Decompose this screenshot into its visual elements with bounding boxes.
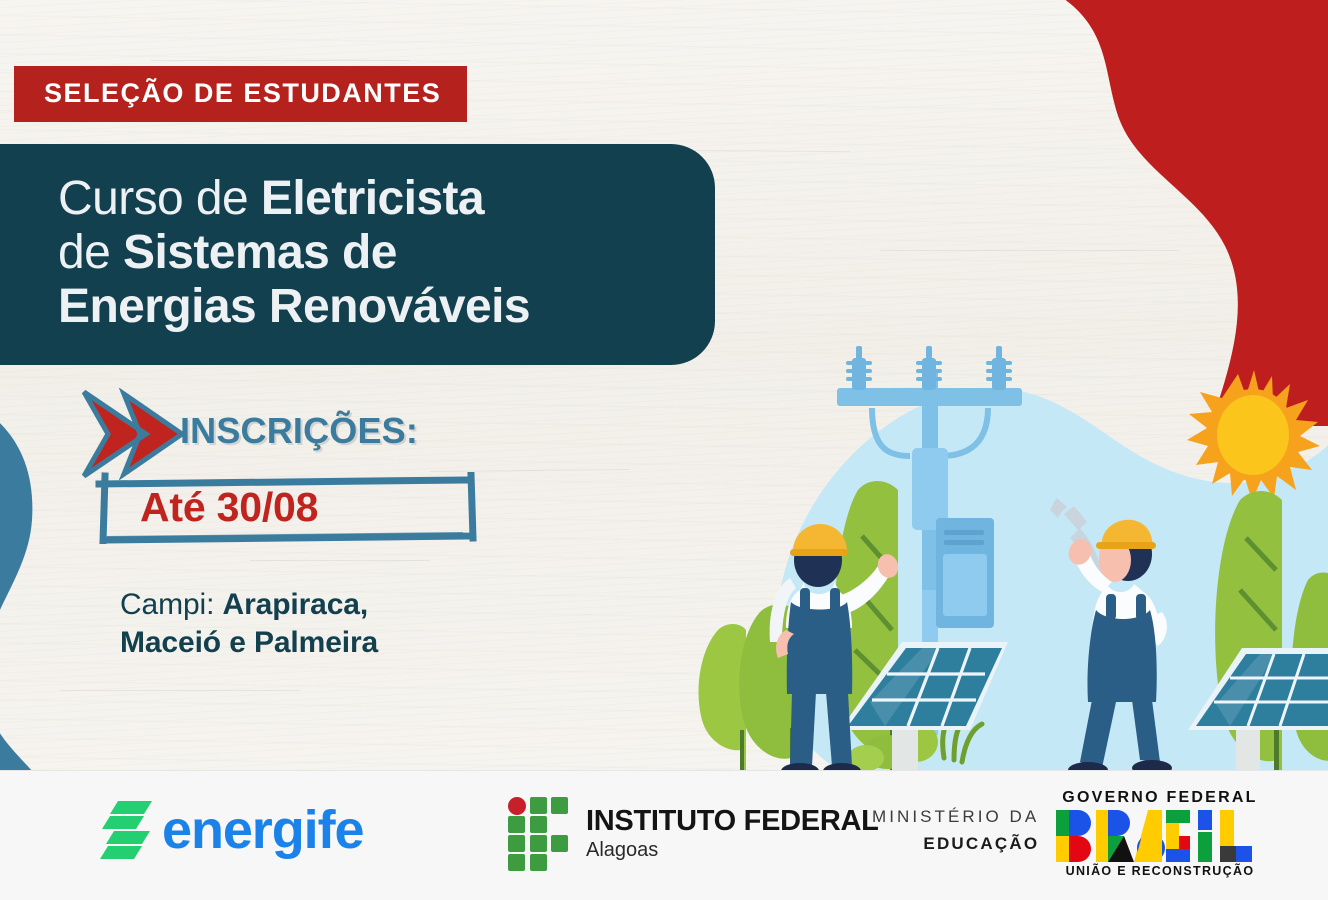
campi-line-2: Maceió e Palmeira: [120, 626, 378, 659]
if-name: INSTITUTO FEDERAL: [586, 806, 879, 836]
campi-list: Campi: Arapiraca, Maceió e Palmeira: [120, 586, 378, 661]
page-title-line-2: de Sistemas de: [58, 226, 675, 280]
chevron-arrow-icon: [78, 388, 188, 480]
title-part-bold: Energias Renováveis: [58, 280, 530, 333]
campi-line-1: Arapiraca,: [223, 588, 369, 621]
page-title-line-3: Energias Renováveis: [58, 280, 675, 334]
title-part-bold: Sistemas de: [123, 226, 397, 279]
footer-bar: energife INSTITUTO FEDERAL: [0, 770, 1328, 900]
mec-line-1: MINISTÉRIO DA: [872, 807, 1039, 827]
title-part-bold: Eletricista: [261, 172, 484, 225]
campi-label: Campi:: [120, 588, 223, 621]
solar-energy-illustration: [640, 330, 1328, 780]
page-title-line-1: Curso de Eletricista: [58, 172, 675, 226]
ministerio-educacao-logo: MINISTÉRIO DA EDUCAÇÃO: [872, 807, 1039, 854]
tree-icon: [697, 536, 797, 778]
brasil-wordmark-icon: [1056, 810, 1264, 862]
if-grid-icon: [508, 797, 570, 871]
energife-mark-icon: [100, 799, 158, 861]
governo-federal-label: GOVERNO FEDERAL: [1062, 789, 1257, 807]
mec-line-2: EDUCAÇÃO: [923, 834, 1039, 854]
poster-canvas: SELEÇÃO DE ESTUDANTES Curso de Eletricis…: [0, 0, 1328, 900]
energife-wordmark: energife: [162, 803, 363, 857]
title-part-regular: de: [58, 226, 123, 279]
if-unit: Alagoas: [586, 838, 879, 862]
eyebrow-badge: SELEÇÃO DE ESTUDANTES: [14, 66, 467, 122]
energife-logo: energife: [100, 799, 363, 861]
governo-tagline: UNIÃO E RECONSTRUÇÃO: [1066, 864, 1255, 878]
governo-federal-logo: GOVERNO FEDERAL: [1056, 789, 1264, 878]
instituto-federal-logo: INSTITUTO FEDERAL Alagoas: [508, 797, 879, 871]
course-title-panel: Curso de Eletricista de Sistemas de Ener…: [0, 144, 715, 365]
enrollment-label: INSCRIÇÕES:: [180, 410, 418, 452]
deadline-date: Até 30/08: [140, 484, 318, 531]
title-part-regular: Curso de: [58, 172, 261, 225]
